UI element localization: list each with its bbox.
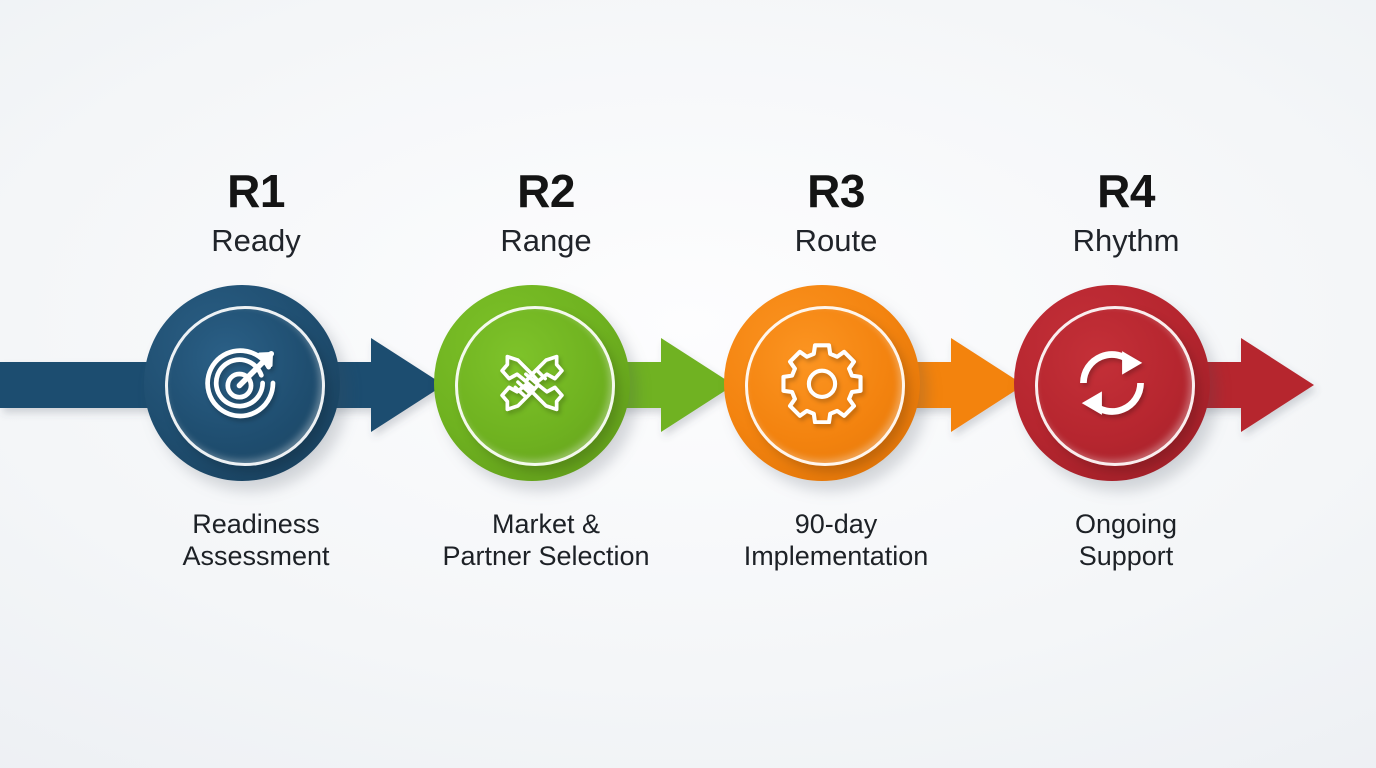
step-caption-r2: Market & Partner Selection xyxy=(385,508,707,572)
step-badge-r1[interactable] xyxy=(144,285,340,481)
gear-icon xyxy=(772,333,872,433)
step-code-r1: R1 xyxy=(111,168,401,214)
handshake-icon xyxy=(482,333,582,433)
step-code-r3: R3 xyxy=(691,168,981,214)
step-badge-r4[interactable] xyxy=(1014,285,1210,481)
step-badge-r2[interactable] xyxy=(434,285,630,481)
step-name-r4: Rhythm xyxy=(981,222,1271,261)
target-arrow-icon xyxy=(192,333,292,433)
step-code-r4: R4 xyxy=(981,168,1271,214)
step-caption-r4: Ongoing Support xyxy=(965,508,1287,572)
step-name-r2: Range xyxy=(401,222,691,261)
infographic-canvas: R1 Ready Readiness Assessment R2 Range xyxy=(0,0,1376,768)
step-code-r2: R2 xyxy=(401,168,691,214)
process-step-r4[interactable]: R4 Rhythm Ongoing Support xyxy=(981,0,1271,768)
step-name-r3: Route xyxy=(691,222,981,261)
process-step-r3[interactable]: R3 Route 90-day Implementation xyxy=(691,0,981,768)
refresh-cycle-icon xyxy=(1062,333,1162,433)
process-step-r1[interactable]: R1 Ready Readiness Assessment xyxy=(111,0,401,768)
step-badge-r3[interactable] xyxy=(724,285,920,481)
process-step-r2[interactable]: R2 Range Market & Partner Se xyxy=(401,0,691,768)
step-name-r1: Ready xyxy=(111,222,401,261)
step-caption-r3: 90-day Implementation xyxy=(675,508,997,572)
step-caption-r1: Readiness Assessment xyxy=(95,508,417,572)
